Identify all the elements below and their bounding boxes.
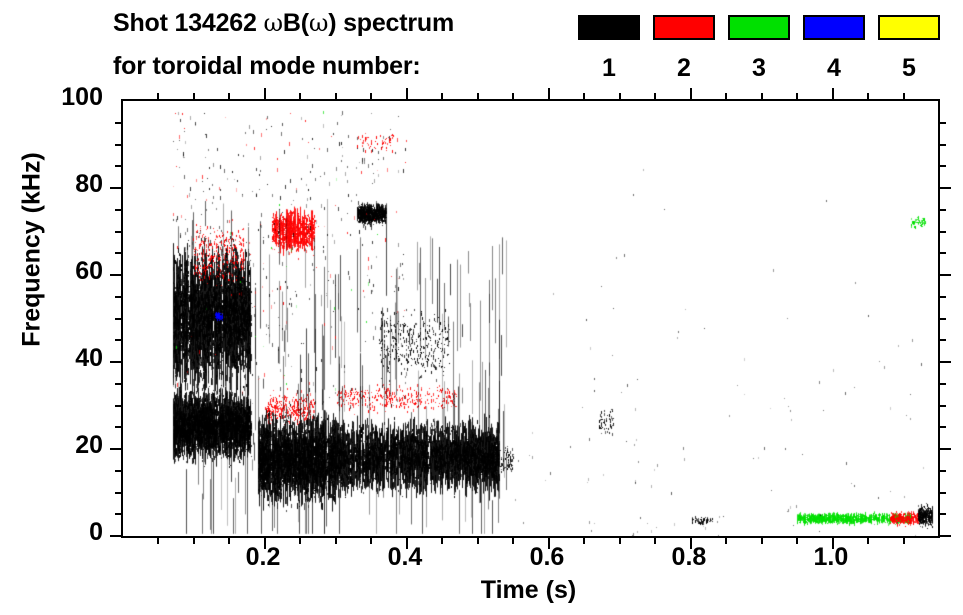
legend-swatch-3 (728, 15, 790, 40)
y-axis-tick-labels: 020406080100 (0, 99, 103, 534)
legend-swatch-5 (878, 15, 940, 40)
y-tick-right-30 (938, 405, 946, 407)
y-tick-35 (115, 383, 123, 385)
y-tick-90 (115, 144, 123, 146)
figure-title-line-2: for toroidal mode number: (113, 52, 421, 81)
title-spectrum-text: ) spectrum (328, 9, 454, 37)
y-tick-60 (110, 274, 123, 276)
x-tick-0.9 (761, 536, 763, 544)
x-tick-0.05 (157, 536, 159, 544)
y-tick-right-10 (938, 492, 946, 494)
y-tick-right-20 (938, 448, 951, 450)
x-tick-0.5 (477, 536, 479, 544)
x-tick-label-0.2: 0.2 (228, 543, 298, 572)
legend-label-2: 2 (653, 54, 715, 83)
y-tick-50 (115, 318, 123, 320)
legend-label-4: 4 (803, 54, 865, 83)
x-tick-top-0.95 (796, 93, 798, 101)
legend-swatch-2 (653, 15, 715, 40)
y-tick-30 (115, 405, 123, 407)
y-tick-right-40 (938, 361, 951, 363)
y-tick-15 (115, 470, 123, 472)
x-tick-label-0.6: 0.6 (512, 543, 582, 572)
legend-swatch-1 (578, 15, 640, 40)
x-tick-top-0.8 (690, 88, 692, 101)
y-tick-right-55 (938, 296, 946, 298)
y-tick-right-70 (938, 231, 946, 233)
x-tick-top-0.3 (335, 93, 337, 101)
y-tick-right-35 (938, 383, 946, 385)
y-tick-10 (115, 492, 123, 494)
x-tick-top-0.55 (512, 93, 514, 101)
y-tick-right-15 (938, 470, 946, 472)
omega-symbol-1: ω (263, 9, 282, 37)
y-tick-0 (110, 535, 123, 537)
x-tick-top-1.1 (903, 93, 905, 101)
x-tick-top-0.85 (725, 93, 727, 101)
y-tick-right-65 (938, 252, 946, 254)
legend-label-3: 3 (728, 54, 790, 83)
y-tick-75 (115, 209, 123, 211)
x-tick-top-0.15 (228, 93, 230, 101)
x-tick-label-0.8: 0.8 (654, 543, 724, 572)
x-tick-0.7 (619, 536, 621, 544)
y-tick-25 (115, 426, 123, 428)
x-tick-top-0.25 (299, 93, 301, 101)
x-tick-label-1: 1.0 (796, 543, 866, 572)
spectrogram-figure: Shot 134262 ωB(ω) spectrum for toroidal … (0, 0, 963, 615)
x-tick-0.45 (441, 536, 443, 544)
y-tick-right-85 (938, 165, 946, 167)
y-tick-80 (110, 187, 123, 189)
y-tick-right-45 (938, 339, 946, 341)
y-tick-45 (115, 339, 123, 341)
x-tick-top-1 (832, 88, 834, 101)
y-tick-right-75 (938, 209, 946, 211)
title-b-text: B( (283, 9, 309, 37)
y-tick-right-80 (938, 187, 951, 189)
plot-area (121, 99, 940, 538)
x-tick-top-0.9 (761, 93, 763, 101)
legend-swatch-4 (803, 15, 865, 40)
x-tick-top-0.7 (619, 93, 621, 101)
y-tick-right-50 (938, 318, 946, 320)
y-tick-70 (115, 231, 123, 233)
x-tick-top-1.05 (867, 93, 869, 101)
x-tick-top-0.35 (370, 93, 372, 101)
x-tick-top-0.05 (157, 93, 159, 101)
x-axis-title: Time (s) (121, 576, 936, 605)
y-tick-85 (115, 165, 123, 167)
y-tick-95 (115, 122, 123, 124)
x-tick-0.25 (299, 536, 301, 544)
y-tick-label-80: 80 (75, 170, 103, 199)
y-tick-20 (110, 448, 123, 450)
y-tick-right-90 (938, 144, 946, 146)
x-tick-top-0.65 (583, 93, 585, 101)
y-tick-right-95 (938, 122, 946, 124)
x-tick-0.65 (583, 536, 585, 544)
y-tick-label-0: 0 (89, 518, 103, 547)
omega-symbol-2: ω (309, 9, 328, 37)
title-shot-text: Shot 134262 (113, 9, 263, 37)
y-tick-right-0 (938, 535, 951, 537)
x-tick-top-0.45 (441, 93, 443, 101)
x-tick-label-0.4: 0.4 (370, 543, 440, 572)
x-tick-1.1 (903, 536, 905, 544)
x-tick-top-0.75 (654, 93, 656, 101)
x-tick-top-0.4 (406, 88, 408, 101)
y-tick-label-40: 40 (75, 344, 103, 373)
y-tick-label-60: 60 (75, 257, 103, 286)
y-tick-55 (115, 296, 123, 298)
y-tick-label-20: 20 (75, 431, 103, 460)
y-tick-right-5 (938, 513, 946, 515)
spectrogram-canvas (123, 101, 938, 536)
y-axis-title: Frequency (kHz) (18, 70, 47, 430)
x-tick-top-0.5 (477, 93, 479, 101)
y-tick-5 (115, 513, 123, 515)
x-tick-1.05 (867, 536, 869, 544)
y-tick-label-100: 100 (61, 83, 103, 112)
y-tick-right-25 (938, 426, 946, 428)
y-tick-right-60 (938, 274, 951, 276)
x-tick-top-0.1 (193, 93, 195, 101)
x-tick-0.1 (193, 536, 195, 544)
x-tick-top-0.6 (548, 88, 550, 101)
figure-title-line-1: Shot 134262 ωB(ω) spectrum (113, 9, 454, 38)
x-tick-top-0.2 (264, 88, 266, 101)
y-tick-65 (115, 252, 123, 254)
x-tick-0.85 (725, 536, 727, 544)
legend-label-5: 5 (878, 54, 940, 83)
x-tick-0.3 (335, 536, 337, 544)
y-tick-40 (110, 361, 123, 363)
legend-label-1: 1 (578, 54, 640, 83)
